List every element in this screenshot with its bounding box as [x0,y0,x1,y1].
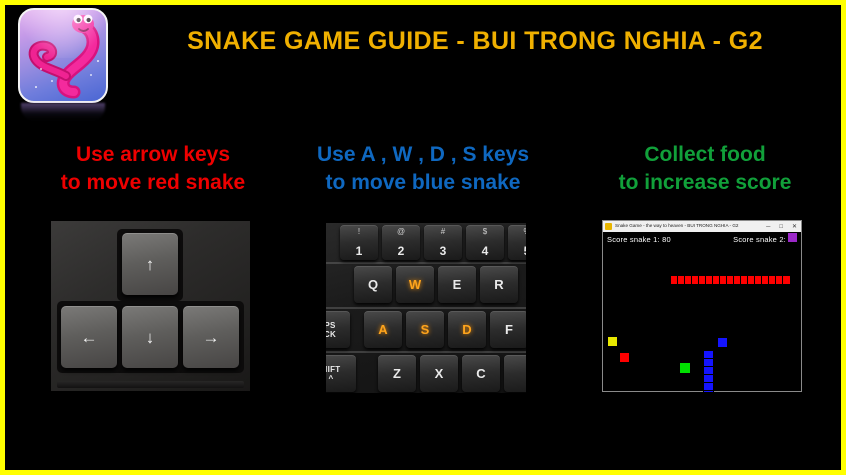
icon-reflection [21,103,105,121]
key-5-sup: % [523,227,526,236]
keyboard-surface: ↑ ← ↓ → [51,221,250,391]
heading-line-1: Use A , W , D , S keys [293,141,553,169]
red-snake-segment [748,276,755,284]
key-arrow-left-label: ← [81,329,98,346]
page-title: SNAKE GAME GUIDE - BUI TRONG NGHIA - G2 [125,27,825,56]
sparkle-dot [40,68,42,70]
key-x-label: X [435,366,444,381]
red-snake-segment [720,276,727,284]
red-snake-segment [755,276,762,284]
key-d[interactable]: D [448,311,486,348]
window-controls: ─ □ ✕ [766,224,801,230]
game-board[interactable]: Score snake 1: 80 Score snake 2: 80 [603,232,801,391]
red-snake-segment [678,276,685,284]
key-2-label: 2 [398,244,405,258]
minimize-icon[interactable]: ─ [766,224,770,230]
heading-line-2: to increase score [570,169,840,197]
key-caps-lock[interactable]: PS CK [326,311,350,348]
key-d-label: D [462,322,471,337]
snake-app-icon [18,8,108,118]
key-f[interactable]: F [490,311,526,348]
red-snake-segment [699,276,706,284]
key-a[interactable]: A [364,311,402,348]
icon-glow [18,8,108,58]
key-arrow-up-label: ↑ [146,256,155,273]
blue-snake-segment [704,351,713,359]
key-r-label: R [494,277,503,292]
key-shift-caret: ^ [329,374,334,383]
heading-arrow-keys: Use arrow keys to move red snake [23,141,283,198]
key-a-label: A [378,322,387,337]
food-yellow [608,337,617,346]
blue-snake-segment [704,367,713,375]
key-1-label: 1 [356,244,363,258]
header: SNAKE GAME GUIDE - BUI TRONG NGHIA - G2 [5,5,841,120]
heading-line-1: Collect food [570,141,840,169]
food-green [680,363,690,373]
key-shift-label: HIFT [326,365,340,374]
key-5[interactable]: % 5 [508,225,526,260]
red-snake-segment [685,276,692,284]
red-snake-segment [706,276,713,284]
key-z-label: Z [393,366,401,381]
blue-snake-head [718,338,727,347]
key-s-label: S [421,322,430,337]
snake-game-window: Snake Game - the way to heaven - BUI TRO… [602,220,802,392]
key-4-label: 4 [482,244,489,258]
heading-collect-food: Collect food to increase score [570,141,840,198]
key-x[interactable]: X [420,355,458,392]
red-snake-segment [776,276,783,284]
red-snake-segment [713,276,720,284]
key-arrow-down[interactable]: ↓ [122,306,178,368]
blue-snake-segment [704,375,713,383]
key-r[interactable]: R [480,266,518,303]
key-f-label: F [505,322,513,337]
app-icon [605,223,612,230]
row-separator [326,262,526,264]
key-caps-lock-label-1: PS [326,321,336,330]
keyboard-surface: ! 1 @ 2 # 3 $ 4 % 5 Q [326,223,526,393]
row-separator [326,351,526,353]
key-e-label: E [453,277,462,292]
blue-snake-segment [704,391,713,392]
sparkle-dot [97,60,99,62]
red-snake-segment [762,276,769,284]
key-c-label: C [476,366,485,381]
key-caps-lock-label-2: CK [326,330,336,339]
slide-canvas: SNAKE GAME GUIDE - BUI TRONG NGHIA - G2 … [5,5,841,470]
key-1[interactable]: ! 1 [340,225,378,260]
key-3-sup: # [441,227,445,236]
heading-line-2: to move red snake [23,169,283,197]
key-arrow-up[interactable]: ↑ [122,233,178,295]
heading-wasd-keys: Use A , W , D , S keys to move blue snak… [293,141,553,198]
key-c[interactable]: C [462,355,500,392]
key-w-label: W [409,277,421,292]
game-window: Snake Game - the way to heaven - BUI TRO… [602,220,802,392]
red-snake-segment [727,276,734,284]
blue-snake-segment [704,359,713,367]
red-snake-segment [741,276,748,284]
key-q-label: Q [368,277,378,292]
key-s[interactable]: S [406,311,444,348]
key-q[interactable]: Q [354,266,392,303]
keyboard-edge [57,381,244,388]
snake-app-icon-tile [18,8,108,103]
key-4-sup: $ [483,227,487,236]
row-separator [326,307,526,309]
key-5-label: 5 [524,244,526,258]
key-z[interactable]: Z [378,355,416,392]
key-arrow-down-label: ↓ [146,329,155,346]
key-3-label: 3 [440,244,447,258]
key-v[interactable] [504,355,526,392]
key-e[interactable]: E [438,266,476,303]
window-titlebar: Snake Game - the way to heaven - BUI TRO… [603,221,801,232]
sparkle-dot [90,74,92,76]
arrow-keys-photo: ↑ ← ↓ → [51,221,250,391]
red-snake-segment [734,276,741,284]
sparkle-dot [51,80,53,82]
blue-snake-segment [704,383,713,391]
wasd-keyboard-photo: ! 1 @ 2 # 3 $ 4 % 5 Q [326,223,526,393]
key-w[interactable]: W [396,266,434,303]
heading-line-1: Use arrow keys [23,141,283,169]
key-arrow-right-label: → [203,329,220,346]
red-snake-segment [769,276,776,284]
key-arrow-right[interactable]: → [183,306,239,368]
key-shift[interactable]: HIFT ^ [326,355,356,392]
close-icon[interactable]: ✕ [792,224,797,230]
food-red [620,353,629,362]
key-2-sup: @ [397,227,405,236]
key-3[interactable]: # 3 [424,225,462,260]
key-arrow-left[interactable]: ← [61,306,117,368]
maximize-icon[interactable]: □ [779,224,783,230]
food-purple [788,233,797,242]
key-4[interactable]: $ 4 [466,225,504,260]
score-snake-1: Score snake 1: 80 [607,235,671,244]
sparkle-dot [35,86,37,88]
heading-line-2: to move blue snake [293,169,553,197]
red-snake-head [783,276,790,284]
red-snake-segment [671,276,678,284]
key-2[interactable]: @ 2 [382,225,420,260]
window-title: Snake Game - the way to heaven - BUI TRO… [615,224,738,229]
red-snake-segment [692,276,699,284]
key-1-sup: ! [358,227,360,236]
